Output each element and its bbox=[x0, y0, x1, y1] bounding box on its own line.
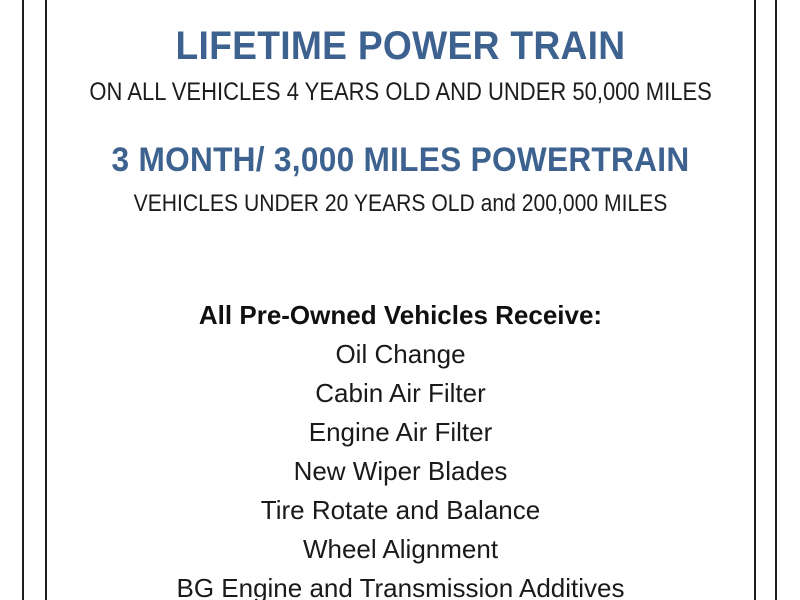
three-month-powertrain-subline: VEHICLES UNDER 20 YEARS OLD and 200,000 … bbox=[89, 192, 711, 216]
right-outer-rule bbox=[775, 0, 777, 600]
services-list: All Pre-Owned Vehicles Receive: Oil Chan… bbox=[47, 296, 754, 600]
three-month-powertrain-headline: 3 MONTH/ 3,000 MILES POWERTRAIN bbox=[72, 143, 730, 177]
services-list-title: All Pre-Owned Vehicles Receive: bbox=[47, 296, 754, 335]
flyer-page: LIFETIME POWER TRAIN ON ALL VEHICLES 4 Y… bbox=[0, 0, 800, 600]
list-item: BG Engine and Transmission Additives bbox=[47, 569, 754, 600]
list-item: New Wiper Blades bbox=[47, 452, 754, 491]
list-item: Wheel Alignment bbox=[47, 530, 754, 569]
lifetime-powertrain-subline: ON ALL VEHICLES 4 YEARS OLD AND UNDER 50… bbox=[89, 80, 711, 105]
list-item: Oil Change bbox=[47, 335, 754, 374]
list-item: Engine Air Filter bbox=[47, 413, 754, 452]
right-inner-rule bbox=[754, 0, 756, 600]
list-item: Cabin Air Filter bbox=[47, 374, 754, 413]
lifetime-powertrain-headline: LIFETIME POWER TRAIN bbox=[72, 26, 730, 66]
flyer-content: LIFETIME POWER TRAIN ON ALL VEHICLES 4 Y… bbox=[47, 0, 754, 600]
list-item: Tire Rotate and Balance bbox=[47, 491, 754, 530]
left-outer-rule bbox=[22, 0, 24, 600]
